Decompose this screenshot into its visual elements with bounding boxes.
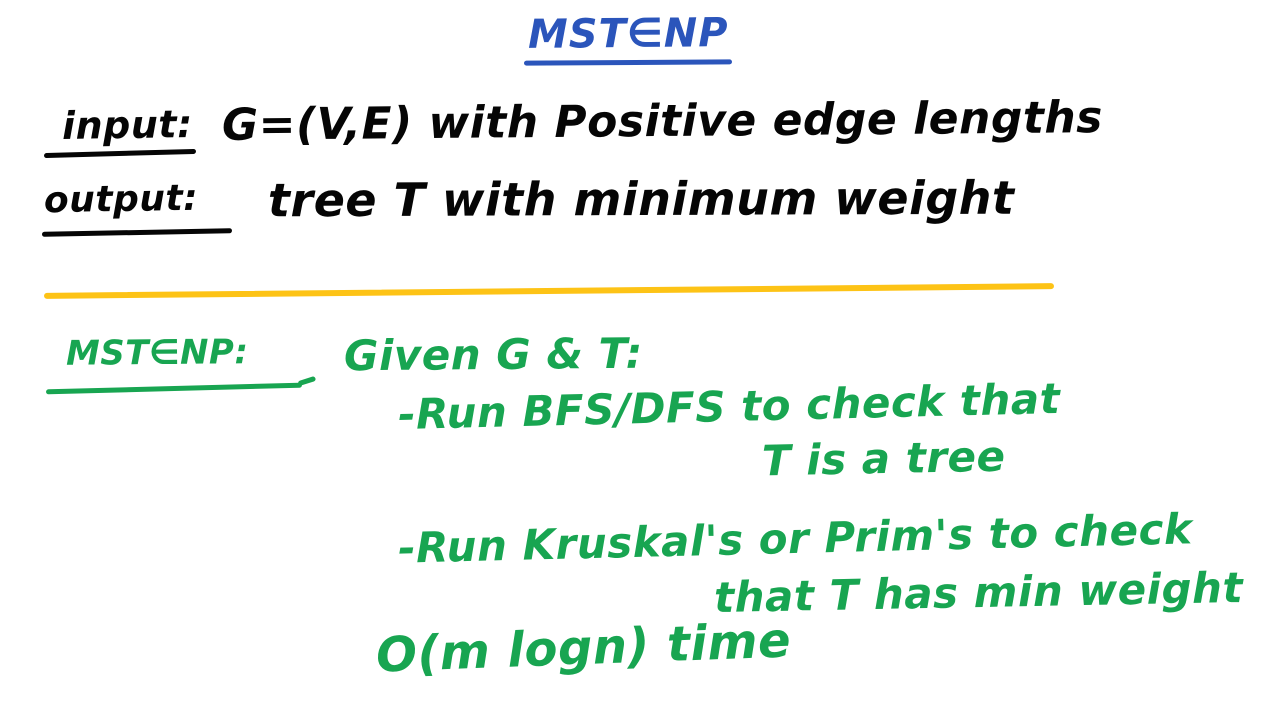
section-divider (44, 283, 1054, 299)
proof-heading: MST∈NP: (66, 335, 249, 371)
proof-line-min-weight: that T has min weight (714, 567, 1244, 619)
whiteboard-slide: MST∈NP input: G=(V,E) with Positive edge… (0, 0, 1280, 719)
input-label-underline (44, 149, 196, 158)
proof-line-kruskal-prim: -Run Kruskal's or Prim's to check (398, 508, 1193, 569)
output-description: tree T with minimum weight (268, 175, 1015, 224)
title-underline (524, 59, 732, 65)
proof-line-running-time: O(m logn) time (375, 616, 792, 679)
proof-heading-underline (46, 383, 302, 395)
proof-line-is-tree: T is a tree (762, 436, 1006, 483)
output-label-underline (42, 228, 232, 237)
input-label: input: (62, 105, 193, 145)
proof-line-bfs-dfs: -Run BFS/DFS to check that (398, 378, 1061, 436)
page-title: MST∈NP (528, 13, 729, 55)
output-label: output: (44, 181, 199, 219)
input-description: G=(V,E) with Positive edge lengths (222, 96, 1103, 148)
proof-line-given: Given G & T: (344, 333, 643, 378)
